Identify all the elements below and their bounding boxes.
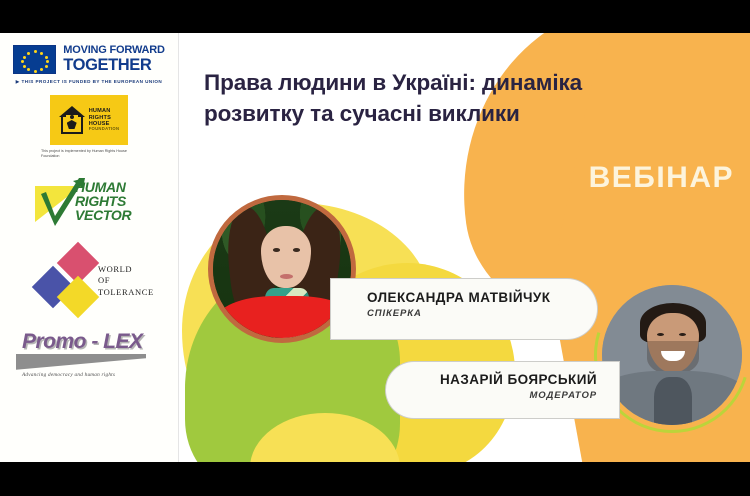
column-divider	[178, 33, 179, 462]
house-icon	[59, 106, 85, 134]
hrhf-caption: This project is implemented by Human Rig…	[41, 149, 137, 160]
wot-line-2: OF	[98, 275, 154, 286]
logo-mft-caption-text: THIS PROJECT IS FUNDED BY THE EUROPEAN U…	[22, 79, 163, 84]
hrhf-word-4: FOUNDATION	[89, 127, 120, 132]
avatar-moderator	[602, 285, 742, 425]
logo-promo-lex: Promo - LEX Advancing democracy and huma…	[14, 324, 164, 386]
wot-line-3: TOLERANCE	[98, 287, 154, 298]
page-title: Права людини в Україні: динаміка розвитк…	[204, 67, 654, 129]
logo-moving-forward-together: MOVING FORWARD TOGETHER ▶ THIS PROJECT I…	[10, 45, 168, 85]
logo-mft-caption: ▶ THIS PROJECT IS FUNDED BY THE EUROPEAN…	[16, 79, 162, 85]
logo-mft-line1: MOVING FORWARD	[63, 45, 165, 56]
video-frame: MOVING FORWARD TOGETHER ▶ THIS PROJECT I…	[0, 0, 750, 496]
logo-mft-line2: TOGETHER	[63, 57, 165, 74]
hrv-line-3: VECTOR	[75, 208, 131, 222]
promo-lex-swoosh	[16, 354, 146, 370]
speaker-name-card: ОЛЕКСАНДРА МАТВІЙЧУК СПІКЕРКА	[330, 278, 598, 340]
hrv-line-1: HUMAN	[75, 180, 131, 194]
speaker-name: ОЛЕКСАНДРА МАТВІЙЧУК	[367, 290, 597, 305]
webinar-poster: MOVING FORWARD TOGETHER ▶ THIS PROJECT I…	[0, 33, 750, 462]
speaker-role: СПІКЕРКА	[367, 308, 597, 319]
promo-lex-wordmark: Promo - LEX	[22, 330, 143, 354]
promo-lex-tagline: Advancing democracy and human rights	[22, 372, 115, 378]
hrhf-badge: HUMAN RIGHTS HOUSE FOUNDATION	[50, 95, 128, 145]
arrow-icon: ▶	[16, 79, 20, 84]
logo-human-rights-house-foundation: HUMAN RIGHTS HOUSE FOUNDATION This proje…	[41, 95, 137, 160]
european-union-flag-icon	[13, 45, 56, 74]
moderator-name-card: НАЗАРІЙ БОЯРСЬКИЙ МОДЕРАТОР	[385, 361, 620, 419]
logo-world-of-tolerance: WORLD OF TOLERANCE	[24, 242, 154, 314]
letterbox-top	[0, 0, 750, 33]
wot-line-1: WORLD	[98, 264, 154, 275]
webinar-badge: ВЕБІНАР	[589, 161, 734, 195]
sponsor-logo-column: MOVING FORWARD TOGETHER ▶ THIS PROJECT I…	[0, 33, 178, 462]
logo-human-rights-vector: HUMAN RIGHTS VECTOR	[29, 170, 149, 232]
moderator-role: МОДЕРАТОР	[386, 390, 597, 401]
moderator-name: НАЗАРІЙ БОЯРСЬКИЙ	[386, 372, 597, 387]
hrv-line-2: RIGHTS	[75, 194, 131, 208]
letterbox-bottom	[0, 462, 750, 496]
